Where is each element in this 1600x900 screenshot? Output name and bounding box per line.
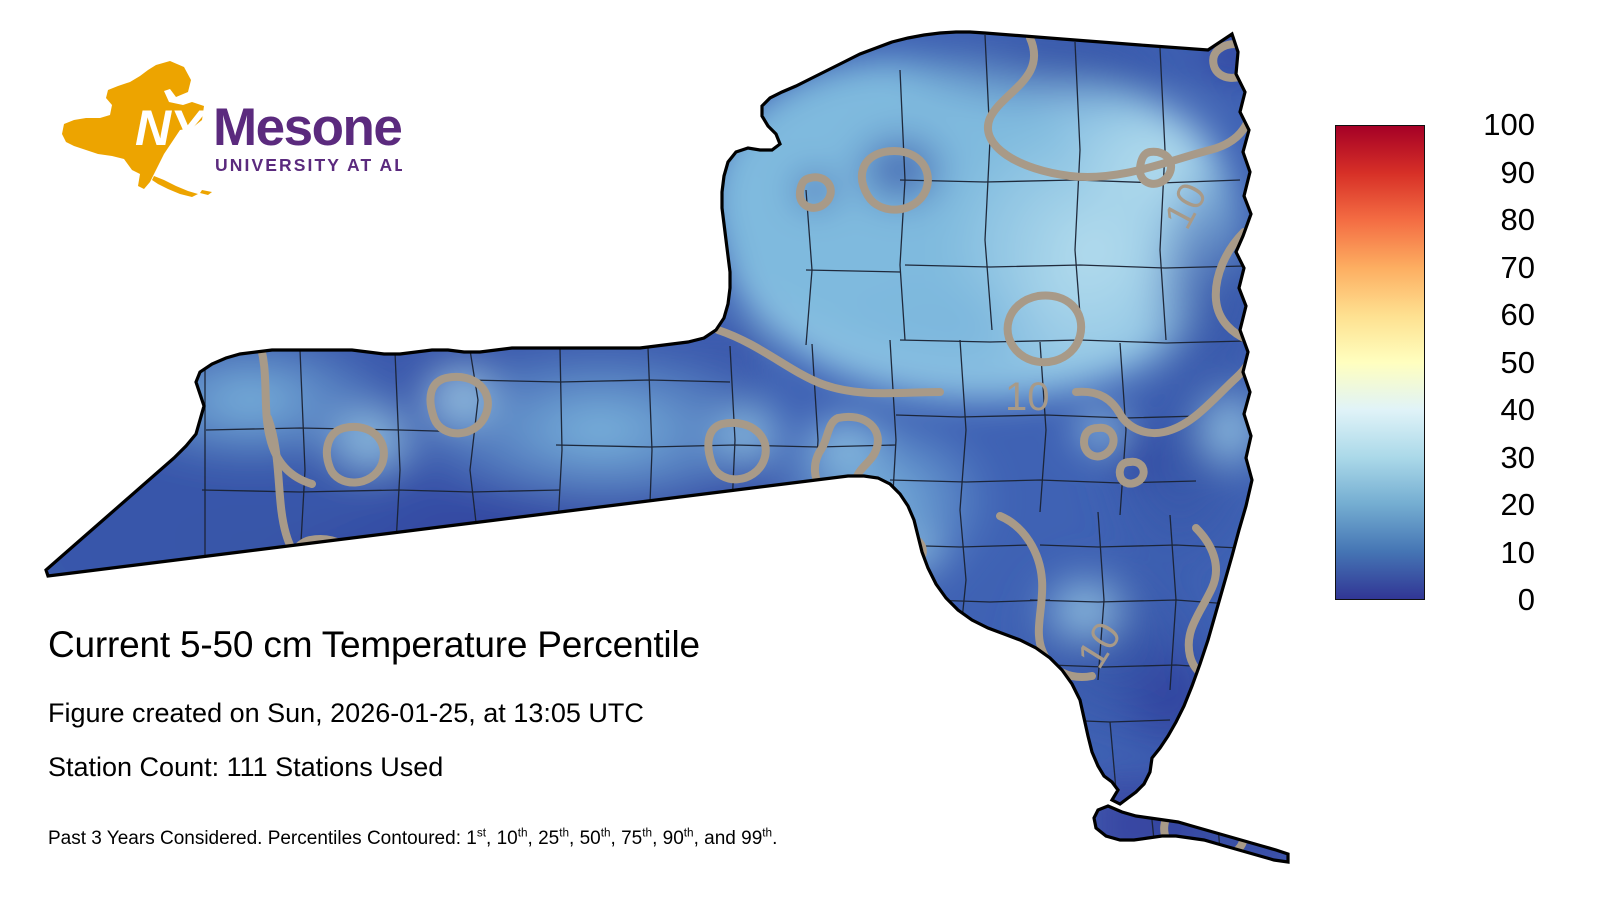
percentile-colorbar[interactable] [1335, 125, 1425, 600]
contour-footnote: Past 3 Years Considered. Percentiles Con… [48, 828, 777, 850]
footnote-p2: 10 [497, 828, 518, 849]
colorbar-tick: 90 [1430, 157, 1535, 188]
footnote-sep4: , [611, 828, 622, 849]
colorbar-tick-labels: 100 90 80 70 60 50 40 30 20 10 0 [1430, 109, 1550, 619]
colorbar-tick: 60 [1430, 299, 1535, 330]
colorbar-tick: 20 [1430, 489, 1535, 520]
contour-ring-sw2 [411, 535, 487, 605]
colorbar-tick: 40 [1430, 394, 1535, 425]
footnote-p7: 99 [741, 828, 762, 849]
colorbar-tick: 50 [1430, 347, 1535, 378]
figure-canvas: NYS Mesonet UNIVERSITY AT ALBANY [0, 0, 1600, 900]
footnote-p5: 75 [621, 828, 642, 849]
colorbar-tick: 80 [1430, 204, 1535, 235]
footnote-lead: Past 3 Years Considered. Percentiles Con… [48, 828, 466, 849]
footnote-p3-suffix: th [559, 827, 569, 840]
footnote-sep6: , [694, 828, 705, 849]
station-count-text: Station Count: 111 Stations Used [48, 752, 443, 783]
footnote-p4-suffix: th [601, 827, 611, 840]
colorbar-tick: 100 [1430, 109, 1535, 140]
figure-created-timestamp: Figure created on Sun, 2026-01-25, at 13… [48, 698, 644, 729]
footnote-p2-suffix: th [518, 827, 528, 840]
contour-ring-sw1 [293, 539, 357, 600]
footnote-p3: 25 [538, 828, 559, 849]
footnote-p6-suffix: th [684, 827, 694, 840]
footnote-p1-suffix: st [477, 827, 486, 840]
colorbar-container: 100 90 80 70 60 50 40 30 20 10 0 [1335, 125, 1585, 625]
footnote-p7-suffix: th [762, 827, 772, 840]
colorbar-tick: 10 [1430, 537, 1535, 568]
footnote-and: and [704, 828, 741, 849]
footnote-sep5: , [652, 828, 663, 849]
contour-ring-li-small [1116, 851, 1146, 876]
footnote-end: . [772, 828, 777, 849]
footnote-sep1: , [486, 828, 497, 849]
footnote-p6: 90 [663, 828, 684, 849]
contour-ring-south1 [743, 547, 802, 606]
footnote-p4: 50 [580, 828, 601, 849]
colorbar-tick: 70 [1430, 252, 1535, 283]
colorbar-tick: 0 [1430, 584, 1535, 615]
footnote-p5-suffix: th [642, 827, 652, 840]
colorbar-tick: 30 [1430, 442, 1535, 473]
footnote-sep3: , [569, 828, 580, 849]
footnote-p1: 1 [466, 828, 477, 849]
footnote-sep2: , [528, 828, 539, 849]
contour-label-central: 10 [1005, 375, 1050, 419]
figure-title: Current 5-50 cm Temperature Percentile [48, 624, 700, 666]
